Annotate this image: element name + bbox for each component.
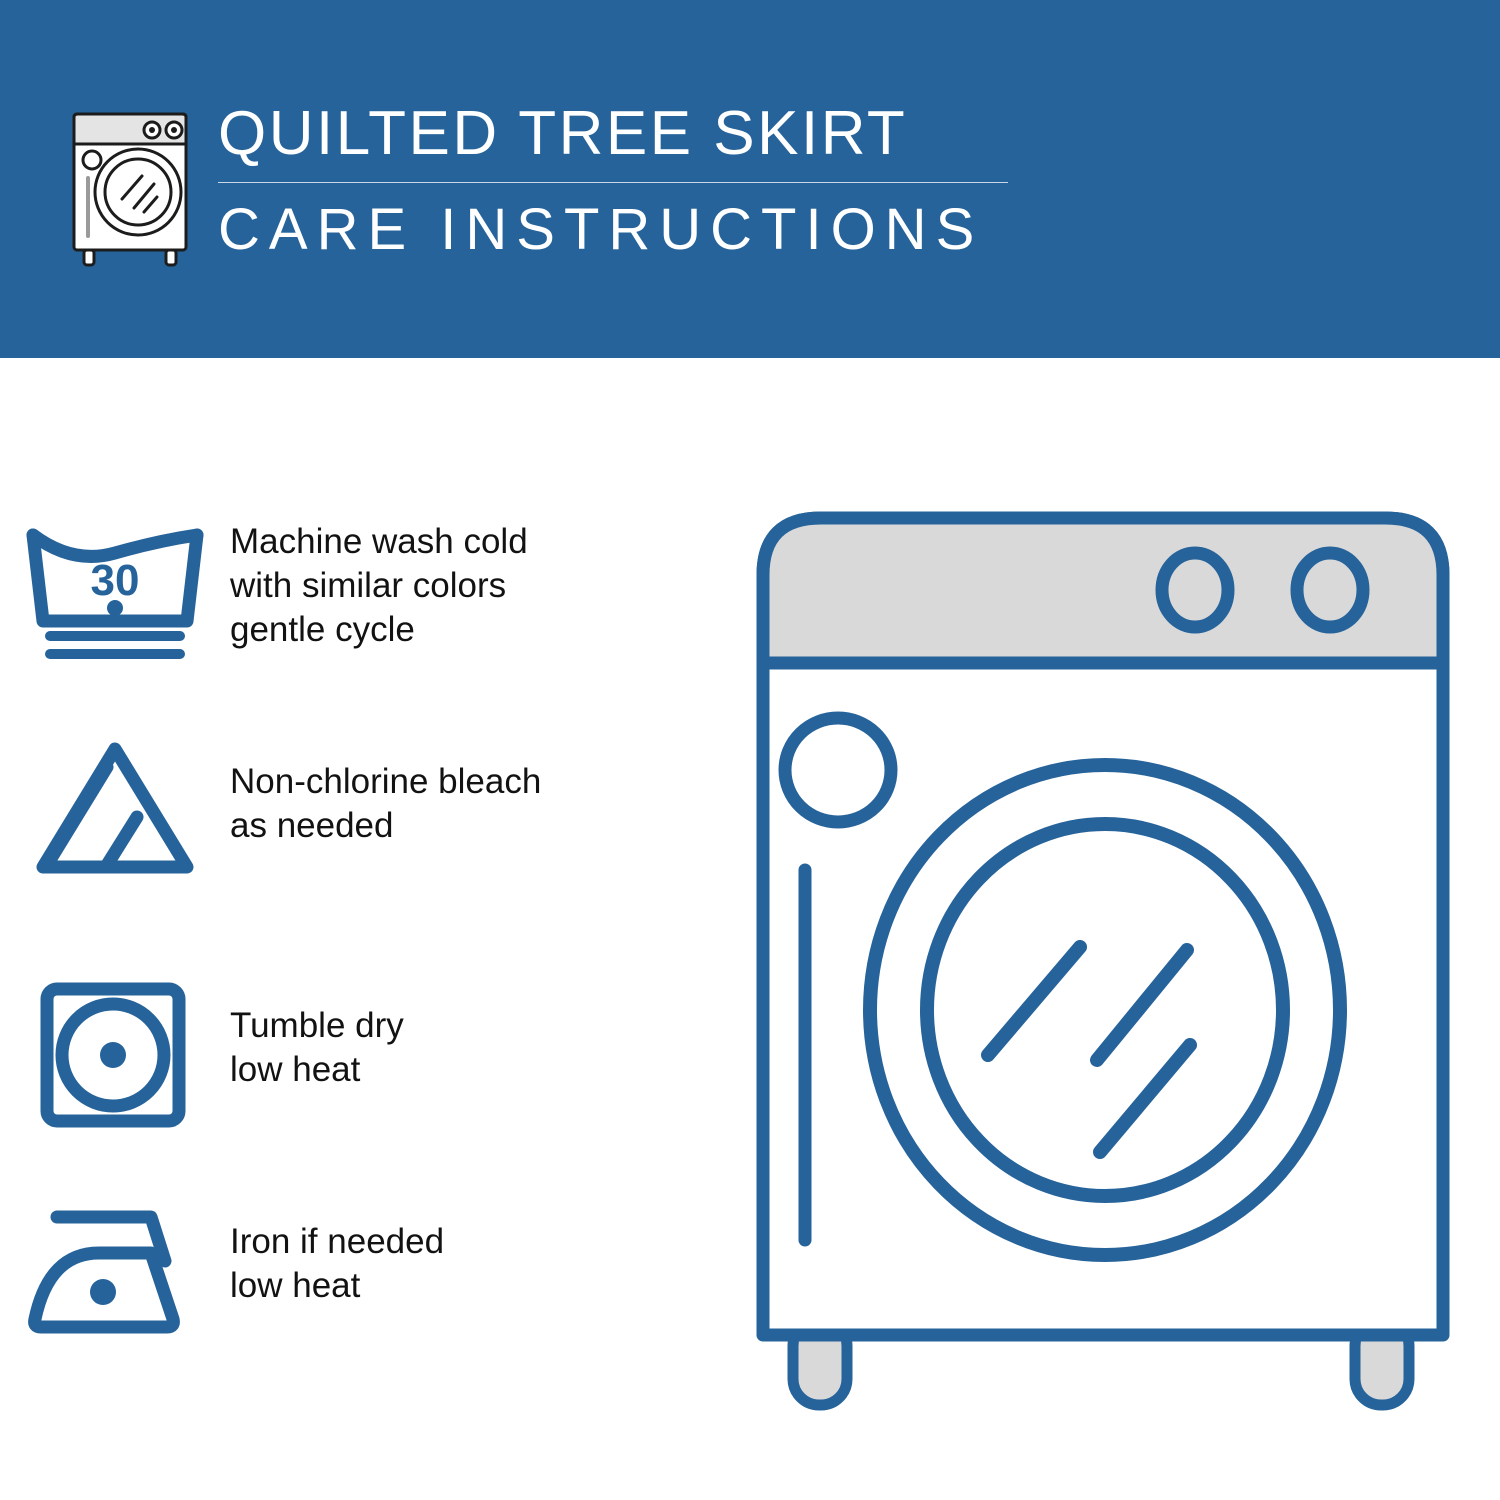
care-line: Machine wash cold xyxy=(230,520,528,564)
washing-machine-logo-icon xyxy=(60,104,200,269)
care-line: Iron if needed xyxy=(230,1220,444,1264)
header-text-block: QUILTED TREE SKIRT CARE INSTRUCTIONS xyxy=(218,96,1028,265)
machine-wash-30-gentle-icon: 30 xyxy=(0,508,230,678)
care-line: Non-chlorine bleach xyxy=(230,760,541,804)
wash-temperature-label: 30 xyxy=(91,556,140,605)
non-chlorine-bleach-triangle-icon xyxy=(0,728,230,898)
care-instruction-list: 30 Machine wash cold with similar colors… xyxy=(0,358,740,1500)
care-row-iron: Iron if needed low heat xyxy=(0,1186,740,1356)
washing-machine-illustration xyxy=(735,480,1470,1430)
title-divider xyxy=(218,182,1008,183)
care-row-bleach: Non-chlorine bleach as needed xyxy=(0,728,740,898)
care-text-machine-wash: Machine wash cold with similar colors ge… xyxy=(230,508,528,652)
page-subtitle: CARE INSTRUCTIONS xyxy=(218,195,1028,265)
page-title: QUILTED TREE SKIRT xyxy=(218,96,1028,172)
care-instructions-page: QUILTED TREE SKIRT CARE INSTRUCTIONS 30 xyxy=(0,0,1500,1500)
care-line: low heat xyxy=(230,1048,404,1092)
iron-low-heat-icon xyxy=(0,1186,230,1356)
care-line: as needed xyxy=(230,804,541,848)
care-row-machine-wash: 30 Machine wash cold with similar colors… xyxy=(0,508,740,678)
care-row-tumble-dry: Tumble dry low heat xyxy=(0,970,740,1140)
care-text-bleach: Non-chlorine bleach as needed xyxy=(230,728,541,848)
header-banner: QUILTED TREE SKIRT CARE INSTRUCTIONS xyxy=(0,0,1500,358)
care-line: gentle cycle xyxy=(230,608,528,652)
care-text-iron: Iron if needed low heat xyxy=(230,1186,444,1308)
care-text-tumble-dry: Tumble dry low heat xyxy=(230,970,404,1092)
care-line: with similar colors xyxy=(230,564,528,608)
care-line: Tumble dry xyxy=(230,1004,404,1048)
care-line: low heat xyxy=(230,1264,444,1308)
tumble-dry-low-heat-icon xyxy=(0,970,230,1140)
